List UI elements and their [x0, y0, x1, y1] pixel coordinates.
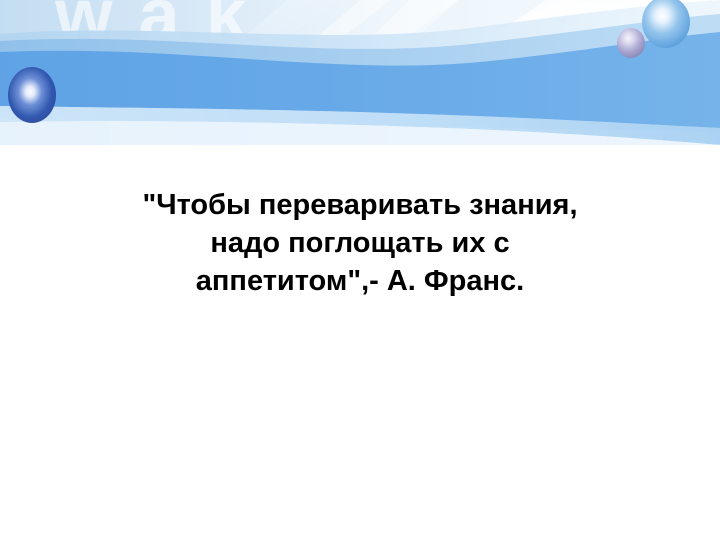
presentation-slide: wak	[0, 0, 720, 540]
quote-line-2: надо поглощать их с	[60, 224, 660, 262]
quote-line-3: аппетитом",- А. Франс.	[60, 262, 660, 300]
slide-header-decoration: wak	[0, 0, 720, 145]
quote-line-1: "Чтобы переваривать знания,	[60, 186, 660, 224]
sphere-small-purple-right	[617, 28, 645, 58]
sphere-dark-blue-left	[8, 67, 56, 123]
header-wave-graphic: wak	[0, 0, 720, 145]
quote-text-block: "Чтобы переваривать знания, надо поглоща…	[60, 186, 660, 300]
